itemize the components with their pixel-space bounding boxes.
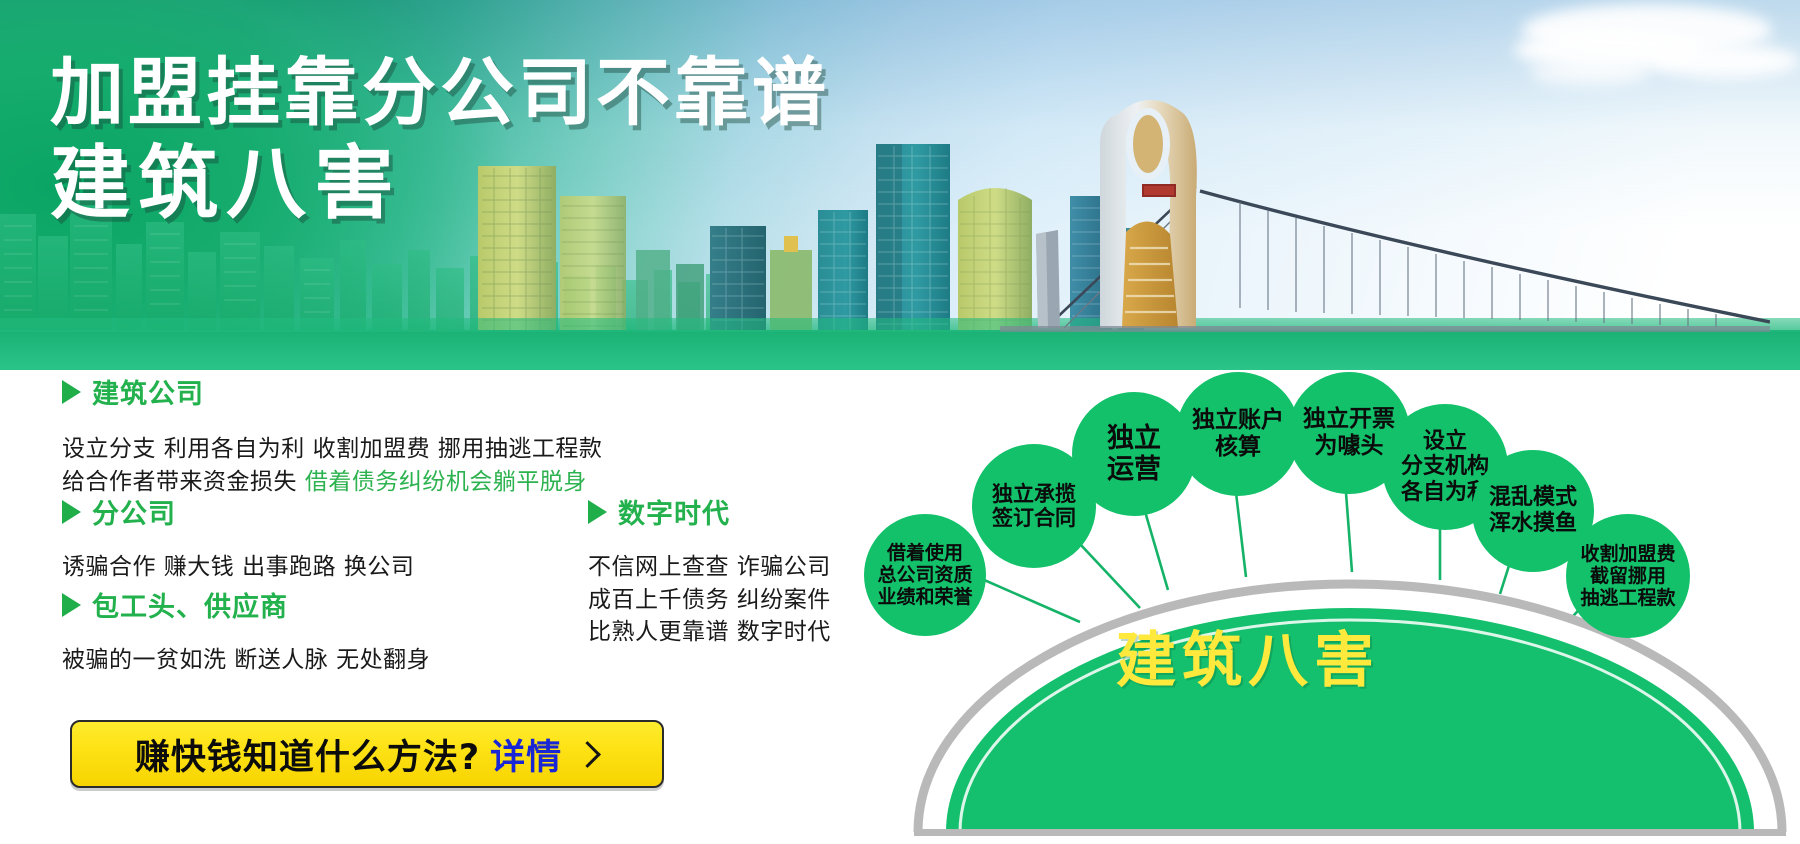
- triangle-bullet-icon: [62, 380, 81, 404]
- bubble-2-text: 独立承揽签订合同: [992, 482, 1076, 531]
- section-body: 不信网上查查 诈骗公司 成百上千债务 纠纷案件 比熟人更靠谱 数字时代: [588, 551, 831, 649]
- section-line-text: 设立分支 利用各自为利 收割加盟费 挪用抽逃工程款: [62, 436, 602, 462]
- bubble-8[interactable]: 收割加盟费截留挪用抽逃工程款: [1566, 514, 1690, 638]
- section-line-text: 给合作者带来资金损失: [62, 469, 305, 495]
- triangle-bullet-icon: [62, 500, 81, 524]
- bubble-5-text: 独立开票为噱头: [1303, 406, 1395, 459]
- hero-title-line1: 加盟挂靠分公司不靠谱: [50, 56, 830, 130]
- section-digital-age: 数字时代 不信网上查查 诈骗公司 成百上千债务 纠纷案件 比熟人更靠谱 数字时代: [588, 492, 831, 649]
- poster-root: 加盟挂靠分公司不靠谱 建筑八害 建筑公司 设立分支 利用各自为利 收割加盟费 挪…: [0, 0, 1800, 844]
- section-body: 被骗的一贫如洗 断送人脉 无处翻身: [62, 644, 430, 677]
- section-body: 诱骗合作 赚大钱 出事跑路 换公司: [62, 551, 414, 584]
- cta-details-link[interactable]: 详情: [490, 729, 562, 780]
- section-line: 成百上千债务 纠纷案件: [588, 584, 831, 617]
- section-line: 设立分支 利用各自为利 收割加盟费 挪用抽逃工程款: [62, 433, 602, 466]
- bridge-illustration: [1000, 36, 1770, 336]
- section-line: 被骗的一贫如洗 断送人脉 无处翻身: [62, 644, 430, 677]
- section-heading: 数字时代: [588, 492, 831, 531]
- section-title: 包工头、供应商: [92, 585, 288, 624]
- eight-harms-diagram: 建筑八害 借着使用总公司资质业绩和荣誉 独立承揽签订合同 独立运营 独立账户核算…: [900, 372, 1800, 844]
- section-title: 建筑公司: [92, 372, 204, 411]
- section-body: 设立分支 利用各自为利 收割加盟费 挪用抽逃工程款 给合作者带来资金损失 借着债…: [62, 433, 602, 498]
- bubble-1-text: 借着使用总公司资质业绩和荣誉: [877, 542, 972, 608]
- cta-button[interactable]: 赚快钱知道什么方法? 详情: [70, 720, 664, 788]
- section-heading: 包工头、供应商: [62, 585, 430, 624]
- section-heading: 分公司: [62, 492, 414, 531]
- bubble-7-text: 混乱模式浑水摸鱼: [1489, 485, 1577, 536]
- bubble-4-text: 独立账户核算: [1192, 407, 1284, 460]
- bubble-8-text: 收割加盟费截留挪用抽逃工程款: [1580, 543, 1675, 609]
- cta-main-label: 赚快钱知道什么方法?: [135, 729, 480, 780]
- left-content-column: 建筑公司 设立分支 利用各自为利 收割加盟费 挪用抽逃工程款 给合作者带来资金损…: [0, 372, 900, 844]
- triangle-bullet-icon: [62, 593, 81, 617]
- bubble-3-text: 独立运营: [1107, 423, 1161, 486]
- dome-center-label: 建筑八害: [1116, 612, 1380, 699]
- section-contractor-supplier: 包工头、供应商 被骗的一贫如洗 断送人脉 无处翻身: [62, 585, 430, 677]
- hero-title-line2: 建筑八害: [50, 144, 830, 224]
- chevron-right-icon: [574, 741, 601, 768]
- section-line-highlight: 借着债务纠纷机会躺平脱身: [305, 469, 587, 495]
- section-branch-company: 分公司 诱骗合作 赚大钱 出事跑路 换公司: [62, 492, 414, 584]
- section-line: 比熟人更靠谱 数字时代: [588, 616, 831, 649]
- section-heading: 建筑公司: [62, 372, 602, 411]
- bubble-3[interactable]: 独立运营: [1072, 392, 1196, 516]
- section-line: 诱骗合作 赚大钱 出事跑路 换公司: [62, 551, 414, 584]
- section-title: 分公司: [92, 492, 176, 531]
- section-title: 数字时代: [618, 492, 730, 531]
- section-construction-company: 建筑公司 设立分支 利用各自为利 收割加盟费 挪用抽逃工程款 给合作者带来资金损…: [62, 372, 602, 498]
- hero-banner: 加盟挂靠分公司不靠谱 建筑八害: [0, 0, 1800, 370]
- hero-title-group: 加盟挂靠分公司不靠谱 建筑八害: [50, 56, 830, 224]
- dome-base-line: [914, 829, 1786, 836]
- bubble-1[interactable]: 借着使用总公司资质业绩和荣誉: [864, 514, 986, 636]
- triangle-bullet-icon: [588, 500, 607, 524]
- section-line: 不信网上查查 诈骗公司: [588, 551, 831, 584]
- bubble-4[interactable]: 独立账户核算: [1176, 372, 1300, 496]
